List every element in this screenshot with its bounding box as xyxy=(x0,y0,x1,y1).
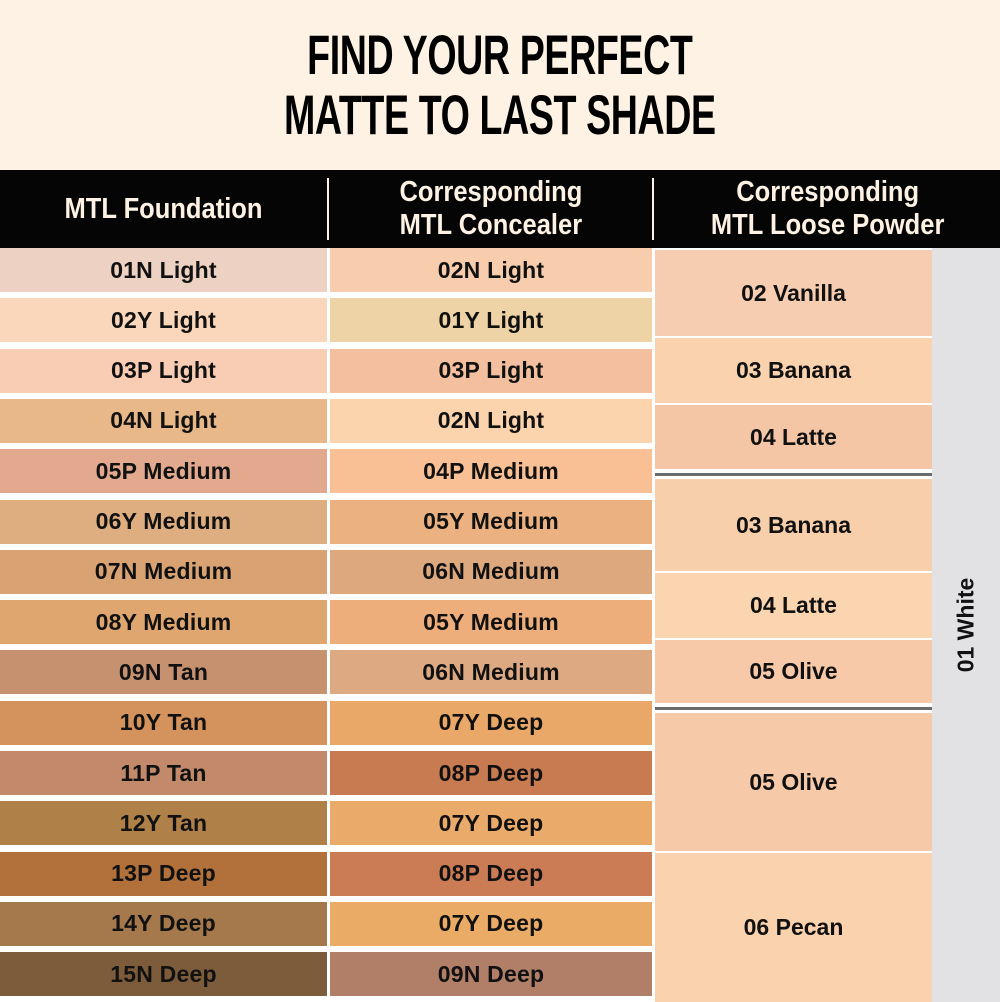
foundation-shade-label: 15N Deep xyxy=(110,961,216,988)
concealer-shade-row[interactable]: 02N Light xyxy=(330,248,652,292)
foundation-column: 01N Light02Y Light03P Light04N Light05P … xyxy=(0,248,327,1002)
concealer-column: 02N Light01Y Light03P Light02N Light04P … xyxy=(330,248,652,1002)
powder-shade-cell[interactable]: 03 Banana xyxy=(655,479,932,571)
powder-shade-label: 04 Latte xyxy=(750,424,837,451)
concealer-shade-label: 06N Medium xyxy=(422,558,559,585)
concealer-shade-label: 02N Light xyxy=(438,257,545,284)
concealer-shade-label: 05Y Medium xyxy=(423,609,559,636)
powder-shade-cell[interactable]: 06 Pecan xyxy=(655,853,932,1002)
foundation-shade-row[interactable]: 02Y Light xyxy=(0,298,327,342)
foundation-shade-label: 06Y Medium xyxy=(96,508,232,535)
foundation-shade-row[interactable]: 13P Deep xyxy=(0,852,327,896)
foundation-shade-row[interactable]: 10Y Tan xyxy=(0,701,327,745)
powder-shade-cell[interactable]: 04 Latte xyxy=(655,573,932,638)
foundation-shade-row[interactable]: 07N Medium xyxy=(0,550,327,594)
chart-title-band: FIND YOUR PERFECT MATTE TO LAST SHADE xyxy=(0,0,1000,170)
concealer-shade-row[interactable]: 07Y Deep xyxy=(330,801,652,845)
powder-shade-cell[interactable]: 02 Vanilla xyxy=(655,250,932,336)
foundation-shade-row[interactable]: 15N Deep xyxy=(0,952,327,996)
concealer-shade-row[interactable]: 07Y Deep xyxy=(330,701,652,745)
concealer-shade-row[interactable]: 03P Light xyxy=(330,349,652,393)
powder-shade-label: 06 Pecan xyxy=(744,914,844,941)
foundation-shade-label: 02Y Light xyxy=(111,307,216,334)
foundation-shade-label: 01N Light xyxy=(110,257,217,284)
column-header-concealer-label: Corresponding MTL Concealer xyxy=(400,176,583,242)
powder-shade-label: 03 Banana xyxy=(736,357,851,384)
header-divider-2 xyxy=(652,178,654,240)
foundation-shade-label: 05P Medium xyxy=(96,458,232,485)
foundation-shade-row[interactable]: 01N Light xyxy=(0,248,327,292)
powder-shade-cell[interactable]: 03 Banana xyxy=(655,338,932,403)
foundation-shade-row[interactable]: 04N Light xyxy=(0,399,327,443)
powder-shade-label: 05 Olive xyxy=(749,769,837,796)
foundation-shade-row[interactable]: 09N Tan xyxy=(0,650,327,694)
concealer-shade-row[interactable]: 07Y Deep xyxy=(330,902,652,946)
foundation-shade-row[interactable]: 14Y Deep xyxy=(0,902,327,946)
concealer-shade-label: 07Y Deep xyxy=(439,910,544,937)
concealer-shade-label: 05Y Medium xyxy=(423,508,559,535)
powder-column: 02 Vanilla03 Banana04 Latte03 Banana04 L… xyxy=(655,248,932,1002)
powder-group-divider-1 xyxy=(655,473,932,476)
foundation-shade-label: 14Y Deep xyxy=(111,910,216,937)
powder-group-divider-2 xyxy=(655,707,932,710)
foundation-shade-row[interactable]: 08Y Medium xyxy=(0,600,327,644)
concealer-shade-label: 07Y Deep xyxy=(439,810,544,837)
concealer-shade-row[interactable]: 04P Medium xyxy=(330,449,652,493)
column-header-foundation: MTL Foundation xyxy=(0,170,327,248)
white-strip-label: 01 White xyxy=(953,578,980,673)
concealer-shade-row[interactable]: 06N Medium xyxy=(330,650,652,694)
column-header-foundation-label: MTL Foundation xyxy=(65,193,263,226)
concealer-shade-row[interactable]: 05Y Medium xyxy=(330,600,652,644)
powder-shade-cell[interactable]: 05 Olive xyxy=(655,713,932,851)
concealer-shade-row[interactable]: 06N Medium xyxy=(330,550,652,594)
powder-shade-label: 03 Banana xyxy=(736,512,851,539)
foundation-shade-label: 07N Medium xyxy=(95,558,232,585)
powder-shade-cell[interactable]: 05 Olive xyxy=(655,640,932,703)
foundation-shade-label: 12Y Tan xyxy=(120,810,207,837)
powder-shade-label: 04 Latte xyxy=(750,592,837,619)
foundation-shade-row[interactable]: 06Y Medium xyxy=(0,500,327,544)
page-title-line-2: MATTE TO LAST SHADE xyxy=(284,80,716,151)
column-header-powder: Corresponding MTL Loose Powder xyxy=(655,170,1000,248)
concealer-shade-label: 08P Deep xyxy=(439,860,544,887)
shade-grid: 01N Light02Y Light03P Light04N Light05P … xyxy=(0,248,1000,1002)
foundation-shade-row[interactable]: 12Y Tan xyxy=(0,801,327,845)
concealer-shade-row[interactable]: 05Y Medium xyxy=(330,500,652,544)
powder-shade-label: 05 Olive xyxy=(749,658,837,685)
loose-powder-white-strip: 01 White xyxy=(932,248,1000,1002)
concealer-shade-label: 01Y Light xyxy=(439,307,544,334)
concealer-shade-label: 09N Deep xyxy=(438,961,544,988)
concealer-shade-row[interactable]: 09N Deep xyxy=(330,952,652,996)
concealer-shade-row[interactable]: 08P Deep xyxy=(330,852,652,896)
concealer-shade-row[interactable]: 01Y Light xyxy=(330,298,652,342)
foundation-shade-label: 09N Tan xyxy=(119,659,208,686)
concealer-shade-row[interactable]: 08P Deep xyxy=(330,751,652,795)
foundation-shade-label: 10Y Tan xyxy=(120,709,207,736)
foundation-shade-label: 08Y Medium xyxy=(96,609,232,636)
foundation-shade-row[interactable]: 03P Light xyxy=(0,349,327,393)
foundation-shade-row[interactable]: 11P Tan xyxy=(0,751,327,795)
column-header-powder-label: Corresponding MTL Loose Powder xyxy=(711,176,944,242)
concealer-shade-label: 02N Light xyxy=(438,407,545,434)
concealer-shade-label: 08P Deep xyxy=(439,760,544,787)
concealer-shade-label: 07Y Deep xyxy=(439,709,544,736)
concealer-shade-label: 06N Medium xyxy=(422,659,559,686)
foundation-shade-row[interactable]: 05P Medium xyxy=(0,449,327,493)
concealer-shade-row[interactable]: 02N Light xyxy=(330,399,652,443)
concealer-shade-label: 03P Light xyxy=(439,357,544,384)
powder-shade-cell[interactable]: 04 Latte xyxy=(655,405,932,469)
powder-shade-label: 02 Vanilla xyxy=(741,280,846,307)
foundation-shade-label: 03P Light xyxy=(111,357,216,384)
table-header: MTL Foundation Corresponding MTL Conceal… xyxy=(0,170,1000,248)
foundation-shade-label: 13P Deep xyxy=(111,860,216,887)
concealer-shade-label: 04P Medium xyxy=(423,458,559,485)
header-divider-1 xyxy=(327,178,329,240)
shade-match-chart: FIND YOUR PERFECT MATTE TO LAST SHADE MT… xyxy=(0,0,1000,1002)
foundation-shade-label: 11P Tan xyxy=(120,760,206,787)
column-header-concealer: Corresponding MTL Concealer xyxy=(330,170,652,248)
foundation-shade-label: 04N Light xyxy=(110,407,217,434)
